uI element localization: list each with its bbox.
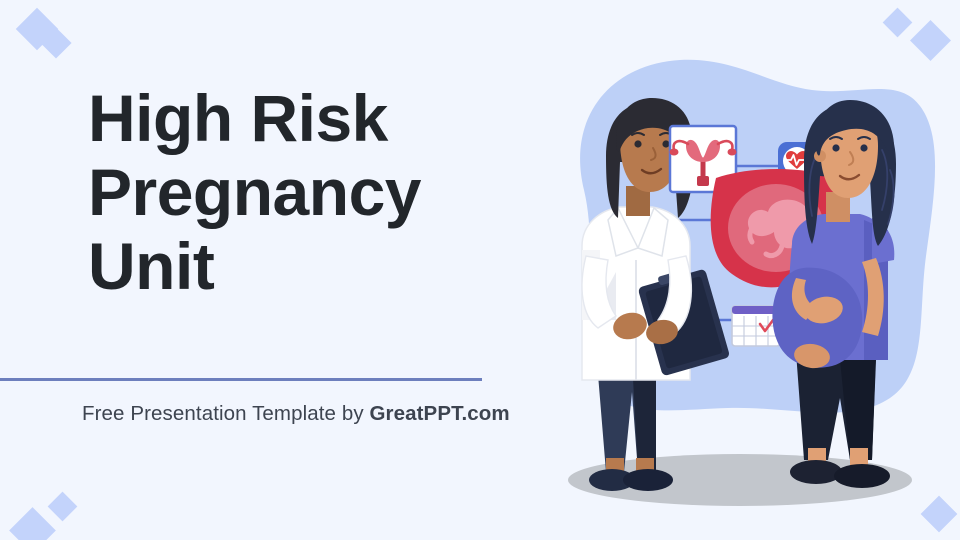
doctor-eye-right — [662, 140, 669, 147]
patient-ankle-right — [850, 448, 868, 466]
slide-title: High Risk Pregnancy Unit — [88, 82, 508, 304]
patient-shoe-left — [790, 460, 842, 484]
patient-shoe-right — [834, 464, 890, 488]
patient-trouser-shade — [840, 360, 876, 460]
diamond-bottom-left-1 — [48, 492, 78, 522]
subtitle-brand: GreatPPT.com — [370, 402, 510, 425]
illustration-container — [520, 20, 960, 530]
patient-eye-left — [832, 144, 839, 151]
doctor-eye-left — [634, 140, 641, 147]
slide-root: High Risk Pregnancy Unit Free Presentati… — [0, 0, 960, 540]
patient-eye-right — [860, 144, 867, 151]
subtitle-prefix: Free Presentation Template by — [82, 402, 370, 425]
doctor-shoe-right — [623, 469, 673, 491]
slide-subtitle: Free Presentation Template by GreatPPT.c… — [82, 402, 510, 426]
diamond-bottom-left-2 — [9, 507, 56, 540]
title-divider — [0, 378, 482, 381]
